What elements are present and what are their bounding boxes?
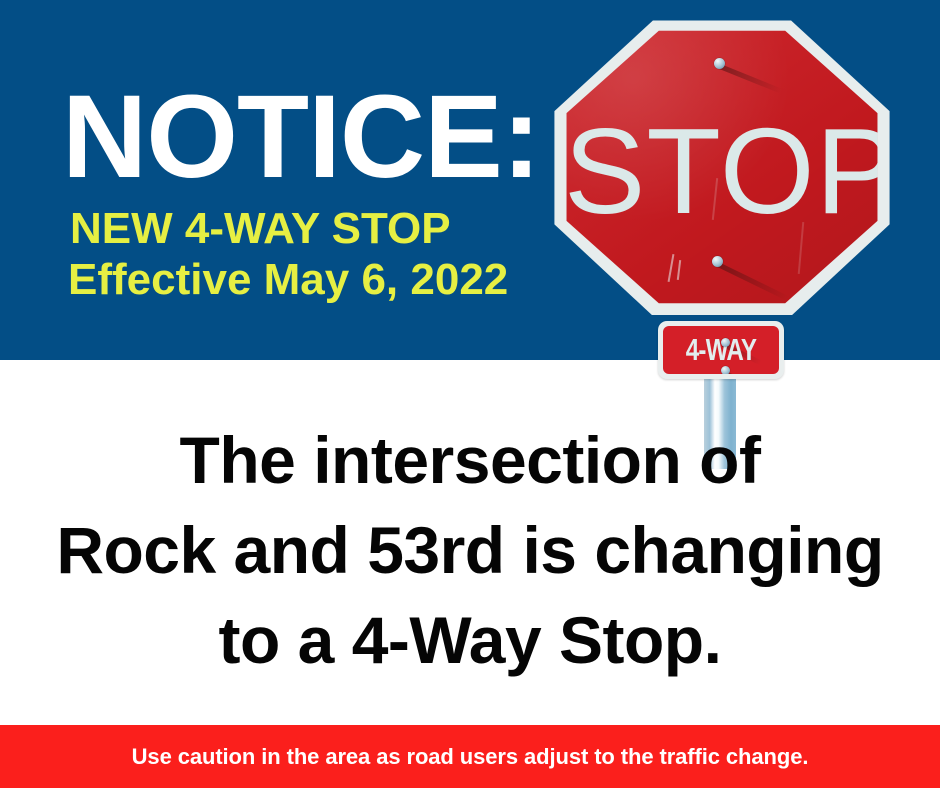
four-way-plate-face: 4-WAY: [663, 326, 779, 374]
page-title: NOTICE:: [62, 78, 540, 196]
octagon-bolt-bottom-icon: [712, 256, 723, 267]
traffic-notice-poster: NOTICE: NEW 4-WAY STOP Effective May 6, …: [0, 0, 940, 788]
subtitle-new-4-way-stop: NEW 4-WAY STOP: [70, 205, 451, 253]
body-line: Rock and 53rd is changing: [0, 505, 940, 595]
plate-bolt-bottom-icon: [721, 366, 730, 374]
octagon-bolt-top-icon: [714, 58, 725, 69]
plate-bolt-top-icon: [721, 338, 730, 347]
stop-sign-octagon-icon: STOP: [551, 16, 893, 318]
body-line: to a 4-Way Stop.: [0, 595, 940, 685]
stop-sign-assembly: 4-WAY STOP: [548, 16, 896, 456]
four-way-plate-icon: 4-WAY: [658, 321, 784, 379]
body-line: The intersection of: [0, 415, 940, 505]
caution-footer-bar: Use caution in the area as road users ad…: [0, 725, 940, 788]
stop-sign-label: STOP: [564, 110, 880, 232]
subtitle-effective-date: Effective May 6, 2022: [68, 256, 508, 304]
body-message: The intersection of Rock and 53rd is cha…: [0, 415, 940, 685]
headline-block: NOTICE: NEW 4-WAY STOP Effective May 6, …: [0, 0, 540, 360]
caution-footer-text: Use caution in the area as road users ad…: [0, 725, 940, 788]
